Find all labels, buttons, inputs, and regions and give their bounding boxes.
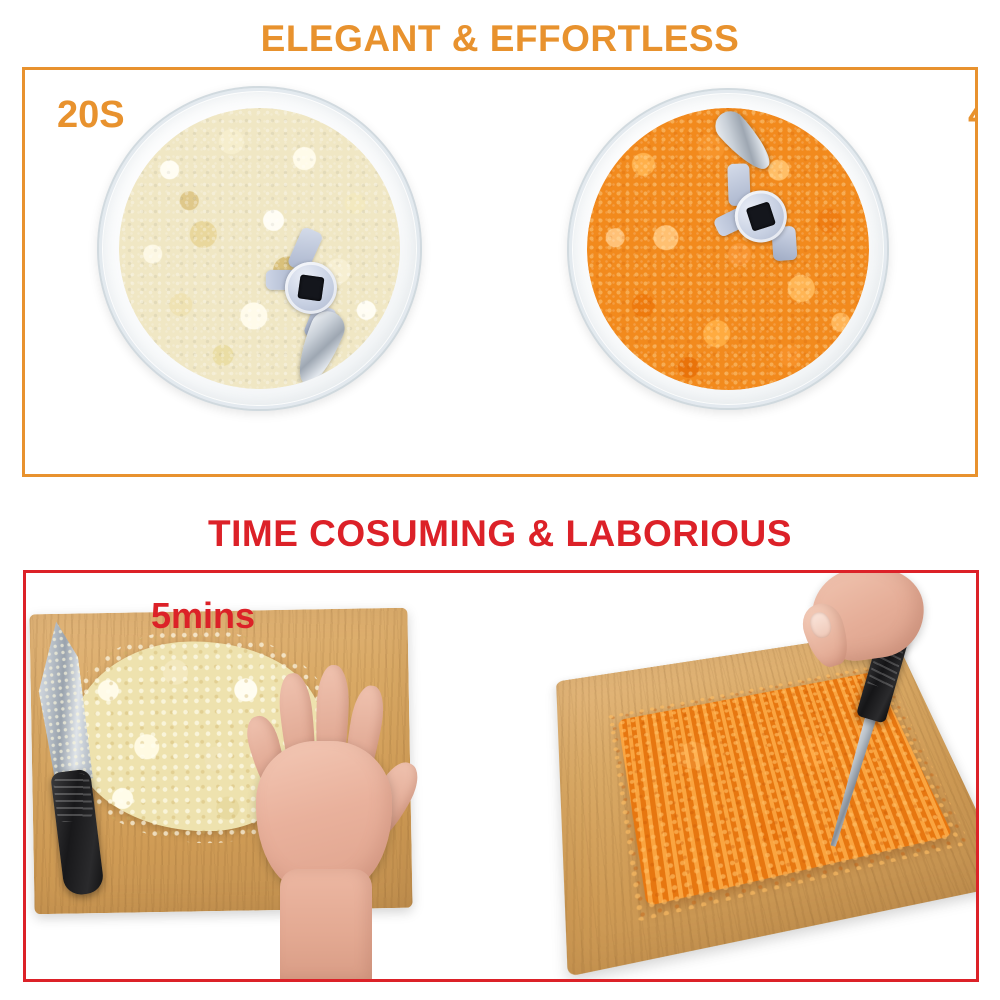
knife-grip-ridges bbox=[53, 773, 94, 823]
processor-bowl-carrot-image bbox=[567, 88, 889, 410]
panel-time-consuming-laborious: 5mins bbox=[23, 570, 979, 982]
hand-on-board bbox=[222, 651, 422, 971]
page-title-time-consuming-laborious: TIME COSUMING & LABORIOUS bbox=[0, 513, 1000, 555]
comparison-infographic: ELEGANT & EFFORTLESS 20S bbox=[0, 0, 1000, 1000]
panel-elegant-effortless: 20S bbox=[22, 67, 978, 477]
knife-blade bbox=[28, 619, 93, 783]
thumb-nail bbox=[807, 610, 834, 641]
processor-blade-garlic bbox=[249, 205, 389, 370]
time-label-40s: 40S bbox=[968, 94, 978, 137]
time-label-20s: 20S bbox=[57, 94, 125, 137]
bowl-contents-carrot bbox=[587, 108, 869, 390]
cell-garlic-manual: 5mins bbox=[26, 573, 506, 979]
knife-handle bbox=[50, 769, 105, 897]
blade-drive-socket bbox=[297, 274, 324, 301]
cell-carrot-manual: 7mins bbox=[506, 573, 976, 979]
cell-garlic-processor: 20S bbox=[25, 70, 495, 474]
cell-carrot-processor: 40S bbox=[495, 70, 975, 474]
bowl-contents-garlic bbox=[119, 108, 400, 389]
processor-bowl-garlic-image bbox=[97, 86, 422, 411]
time-label-5mins: 5mins bbox=[151, 595, 255, 637]
hand-holding-knife bbox=[780, 570, 960, 777]
knife-blade-garlic-residue bbox=[28, 619, 93, 783]
hand-wrist bbox=[280, 869, 372, 979]
page-title-elegant-effortless: ELEGANT & EFFORTLESS bbox=[0, 18, 1000, 60]
